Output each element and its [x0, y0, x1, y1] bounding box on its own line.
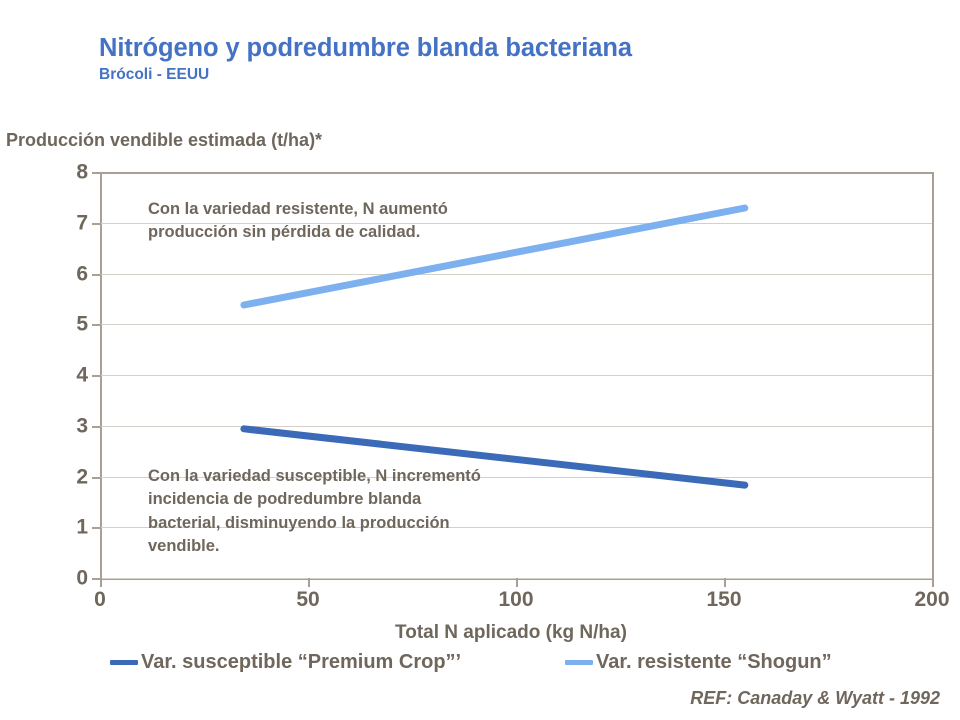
- legend-item-resistant[interactable]: Var. resistente “Shogun”: [565, 652, 832, 672]
- x-tick-label: 100: [498, 589, 533, 610]
- y-tick-mark: [92, 324, 101, 326]
- gridline: [100, 426, 932, 427]
- x-tick-label: 150: [706, 589, 741, 610]
- x-tick-mark: [308, 578, 310, 587]
- gridline: [100, 324, 932, 325]
- y-tick-mark: [92, 223, 101, 225]
- page-title: Nitrógeno y podredumbre blanda bacterian…: [99, 34, 859, 63]
- x-axis-title: Total N aplicado (kg N/ha): [0, 622, 960, 644]
- y-axis-tick-labels: 012345678: [38, 0, 88, 720]
- legend-label: Var. susceptible “Premium Crop”’: [141, 652, 461, 672]
- y-tick-label: 1: [54, 517, 88, 538]
- legend-label: Var. resistente “Shogun”: [596, 652, 832, 672]
- y-tick-label: 2: [54, 466, 88, 487]
- x-tick-mark: [100, 578, 102, 587]
- y-tick-mark: [92, 477, 101, 479]
- y-tick-label: 3: [54, 415, 88, 436]
- y-tick-mark: [92, 527, 101, 529]
- reference-note: REF: Canaday & Wyatt - 1992: [0, 688, 940, 709]
- chart-legend: Var. susceptible “Premium Crop”’ Var. re…: [110, 652, 910, 680]
- x-tick-mark: [932, 578, 934, 587]
- legend-item-susceptible[interactable]: Var. susceptible “Premium Crop”’: [110, 652, 461, 672]
- gridline: [100, 274, 932, 275]
- annotation-susceptible-variety: Con la variedad susceptible, N increment…: [148, 465, 481, 559]
- plot-right-border: [932, 172, 934, 580]
- legend-swatch-icon: [565, 660, 593, 665]
- page-subtitle: Brócoli - EEUU: [99, 66, 859, 84]
- y-tick-label: 5: [54, 314, 88, 335]
- x-tick-label: 200: [914, 589, 949, 610]
- y-tick-mark: [92, 426, 101, 428]
- x-tick-mark: [724, 578, 726, 587]
- y-tick-label: 6: [54, 263, 88, 284]
- x-tick-label: 0: [94, 589, 106, 610]
- y-tick-label: 7: [54, 212, 88, 233]
- y-tick-label: 4: [54, 365, 88, 386]
- x-tick-label: 50: [296, 589, 319, 610]
- gridline: [100, 375, 932, 376]
- title-block: Nitrógeno y podredumbre blanda bacterian…: [99, 34, 859, 83]
- legend-swatch-icon: [110, 660, 138, 665]
- annotation-resistant-variety: Con la variedad resistente, N aumentó pr…: [148, 198, 448, 245]
- y-tick-mark: [92, 375, 101, 377]
- y-tick-mark: [92, 172, 101, 174]
- y-tick-label: 8: [54, 162, 88, 183]
- y-tick-mark: [92, 274, 101, 276]
- y-tick-label: 0: [54, 568, 88, 589]
- x-tick-mark: [516, 578, 518, 587]
